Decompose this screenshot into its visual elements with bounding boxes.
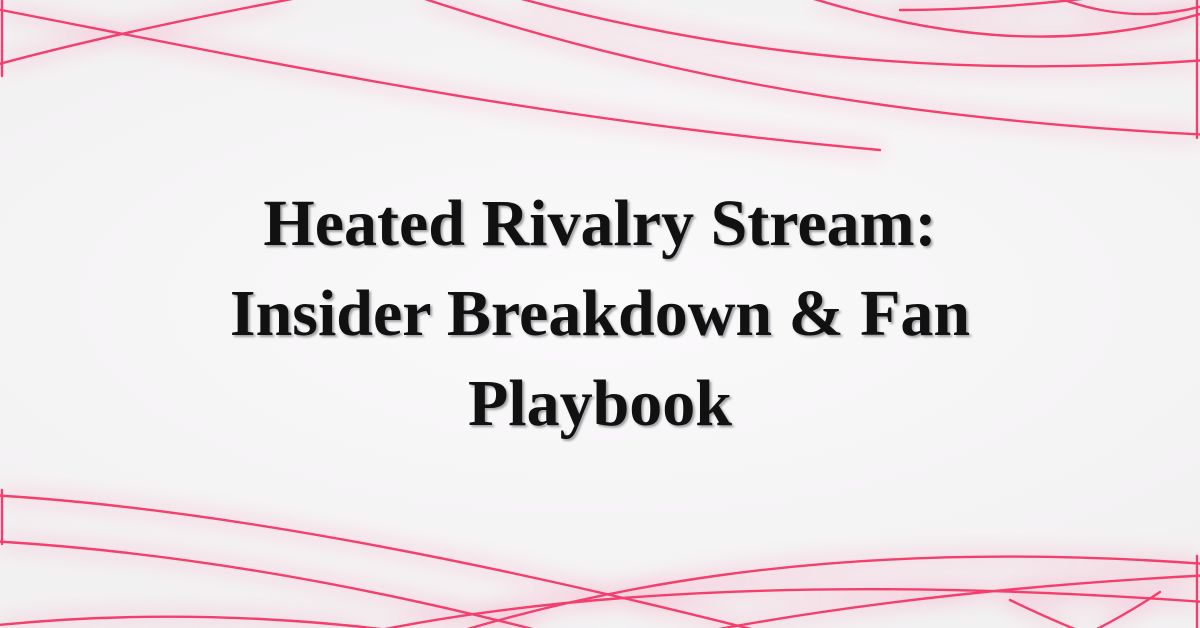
title-block: Heated Rivalry Stream: Insider Breakdown…: [0, 0, 1200, 628]
page-title: Heated Rivalry Stream: Insider Breakdown…: [96, 179, 1104, 449]
social-share-card: Heated Rivalry Stream: Insider Breakdown…: [0, 0, 1200, 628]
